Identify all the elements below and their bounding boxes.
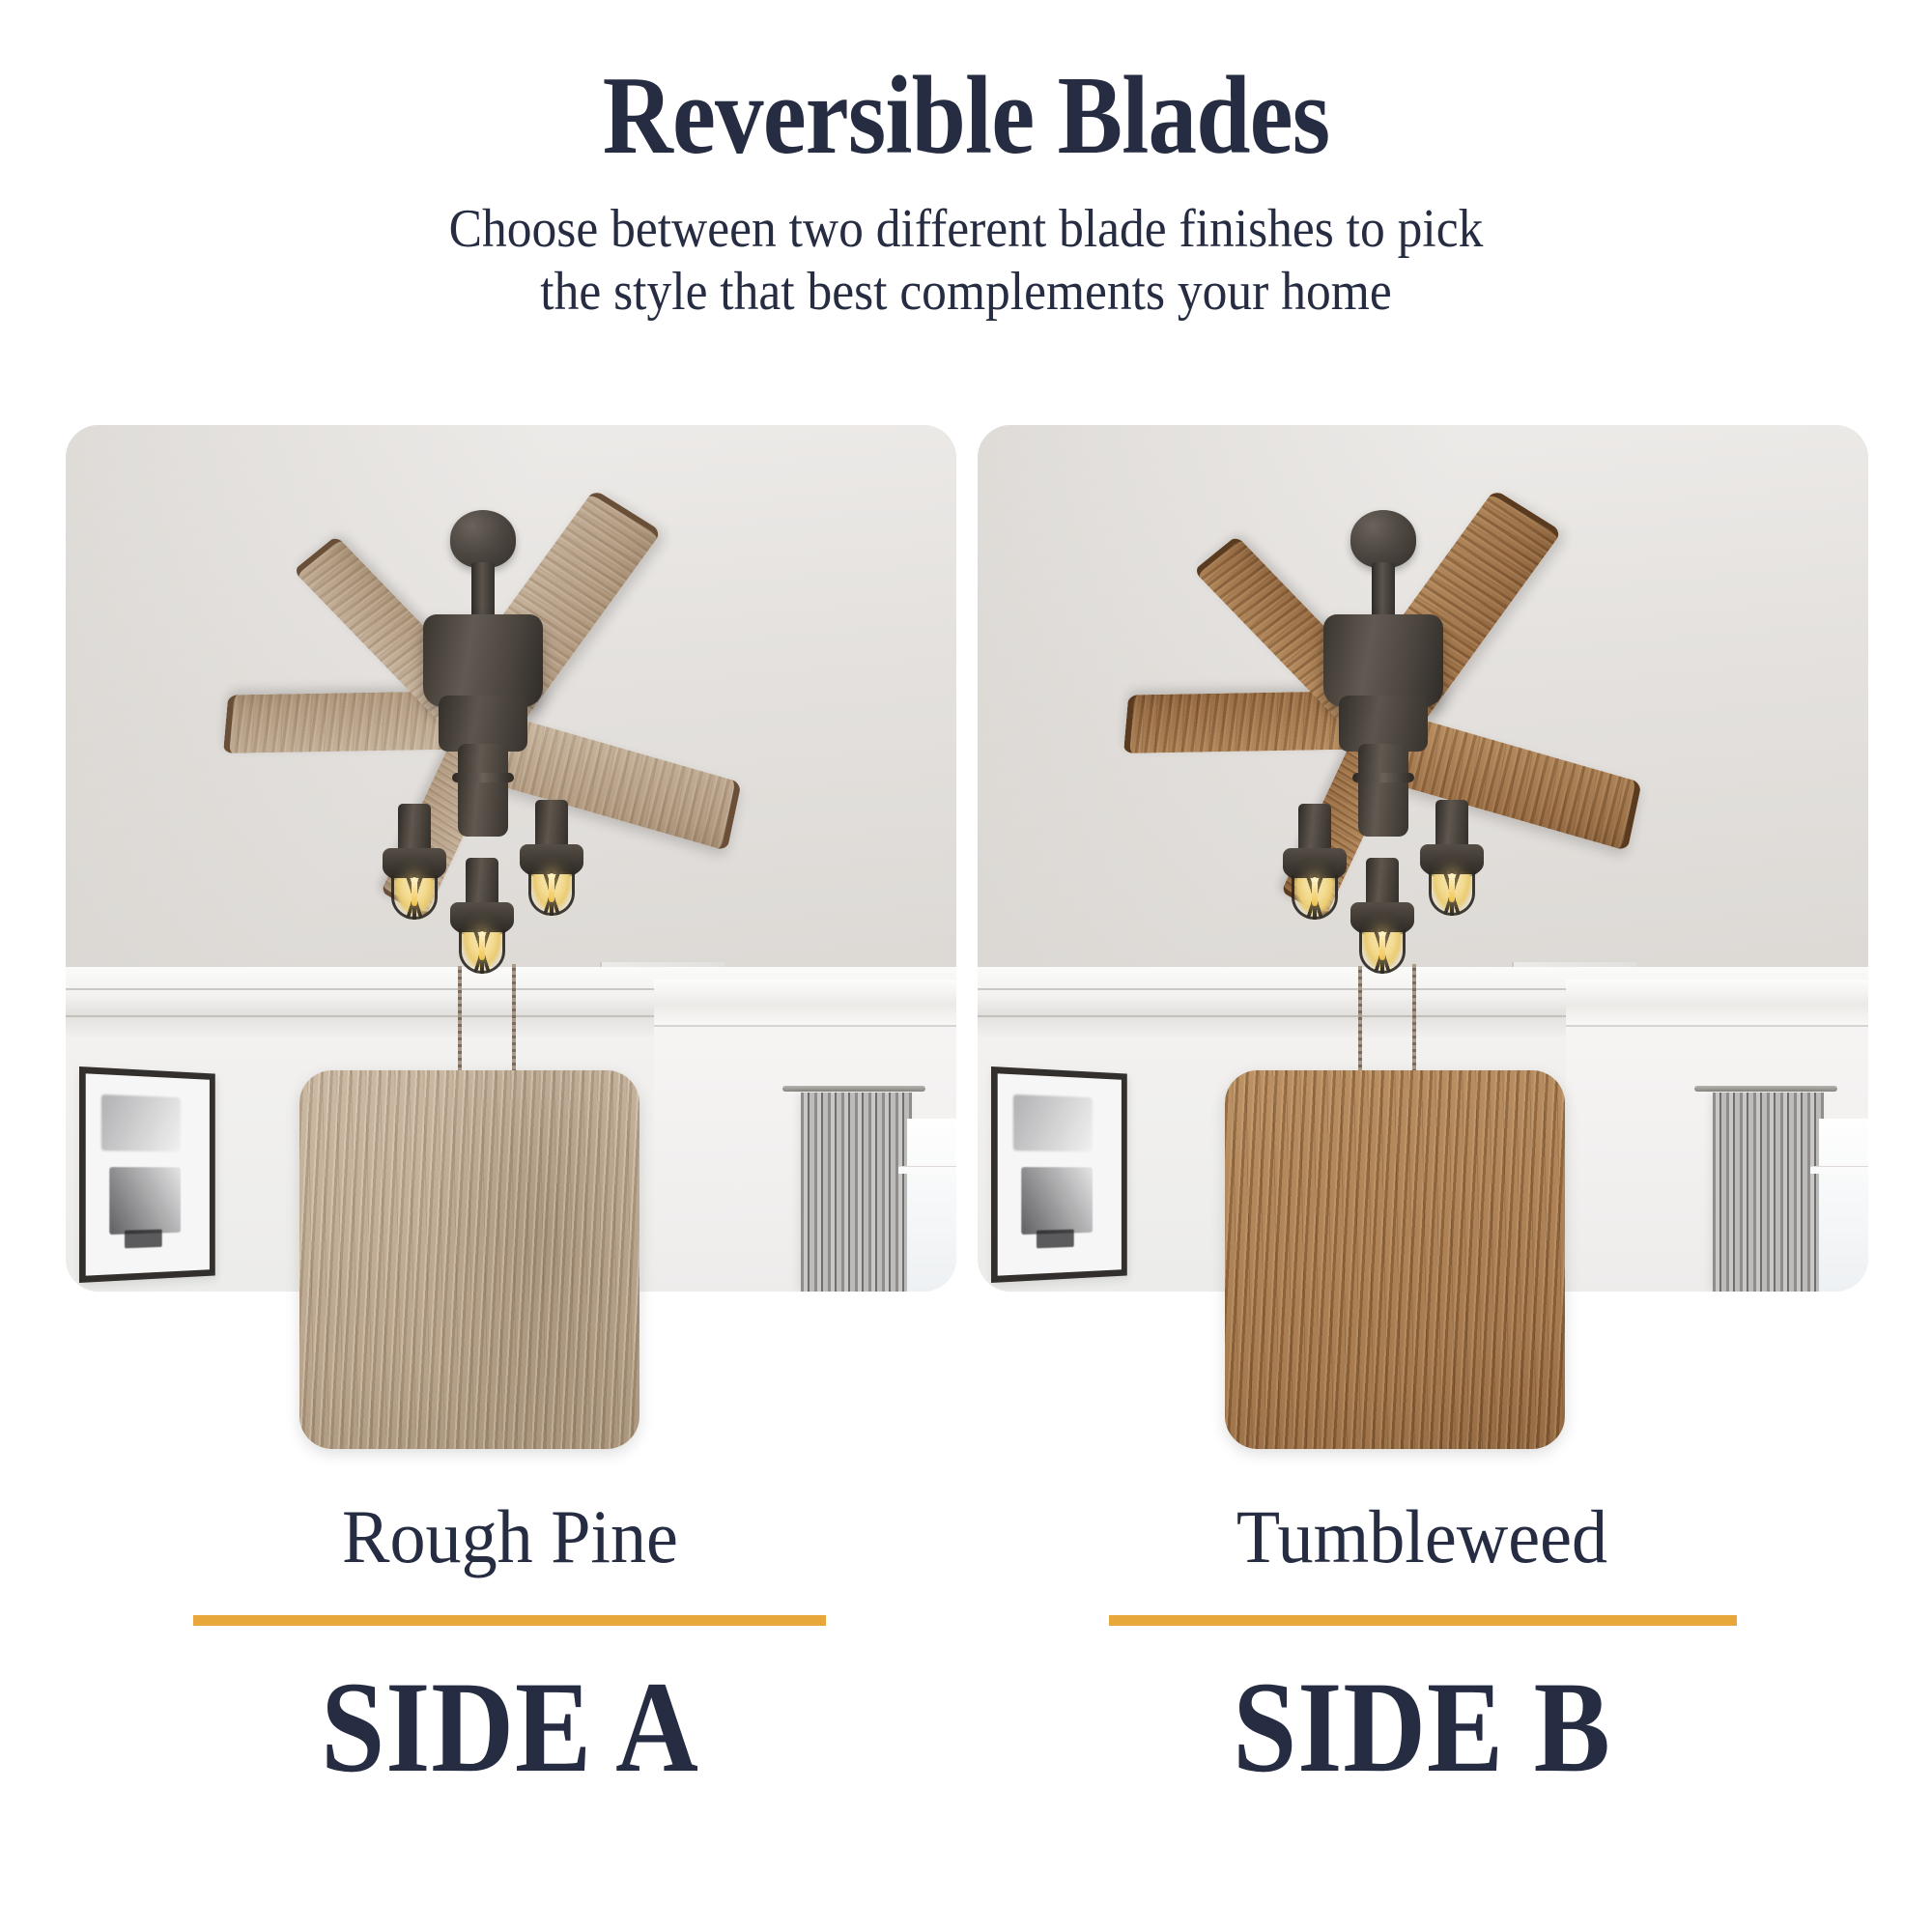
page-title: Reversible Blades [116,60,1816,171]
caged-edison-light [1420,800,1484,914]
curtain-rod [782,1086,925,1092]
adjacent-room-crown-molding [1566,980,1868,1026]
edison-filament [412,877,417,906]
artwork-brushstroke [109,1167,181,1235]
gold-divider-rule [1109,1615,1737,1626]
side-label: SIDE A [128,1662,893,1793]
artwork-brushstroke [101,1094,181,1151]
fan-motor-housing [423,614,543,707]
window [1819,1119,1868,1292]
finish-swatch-rough-pine[interactable] [299,1070,639,1449]
caption-side-b: Tumbleweed SIDE B [987,1499,1857,1793]
window-curtain [801,1093,912,1292]
light-kit-stem [458,744,508,837]
adjacent-room-crown-molding [654,980,956,1026]
edison-filament [479,931,485,960]
fan-downrod [1372,562,1395,622]
pull-chain [1412,964,1416,1084]
fan-downrod [471,562,495,622]
infographic-page: Reversible Blades Choose between two dif… [0,0,1932,1932]
artwork-brushstroke [1013,1094,1093,1151]
caged-edison-light [520,800,583,914]
edison-filament [1312,877,1318,906]
subtitle-line-1: Choose between two different blade finis… [77,198,1855,261]
light-kit-stem [1358,744,1408,837]
caged-edison-light [450,858,514,972]
finish-swatch-tumbleweed[interactable] [1225,1070,1565,1449]
header: Reversible Blades Choose between two dif… [0,0,1932,324]
subtitle-line-2: the style that best complements your hom… [77,261,1855,324]
framed-artwork [991,1066,1127,1283]
caged-edison-light [1283,804,1347,918]
page-subtitle: Choose between two different blade finis… [77,198,1855,324]
edison-filament [549,873,554,902]
caged-edison-light [383,804,446,918]
window-sill [1810,1166,1868,1174]
finish-name-label: Rough Pine [98,1499,923,1575]
curtain-rod [1694,1086,1837,1092]
edison-filament [1449,873,1455,902]
window-sill [898,1166,956,1174]
window [907,1119,956,1292]
caged-edison-light [1350,858,1414,972]
window-curtain [1713,1093,1824,1292]
side-label: SIDE B [1039,1662,1804,1793]
pull-chain [512,964,516,1084]
artwork-brushstroke [1037,1229,1074,1248]
gold-divider-rule [193,1615,826,1626]
fan-canopy [1350,510,1416,568]
fan-canopy [450,510,516,568]
caption-side-a: Rough Pine SIDE A [75,1499,945,1793]
artwork-brushstroke [125,1229,162,1248]
edison-filament [1379,931,1385,960]
framed-artwork [79,1066,215,1283]
artwork-brushstroke [1021,1167,1093,1235]
fan-motor-housing [1323,614,1443,707]
finish-name-label: Tumbleweed [1009,1499,1835,1575]
comparison-panels [0,425,1932,1294]
